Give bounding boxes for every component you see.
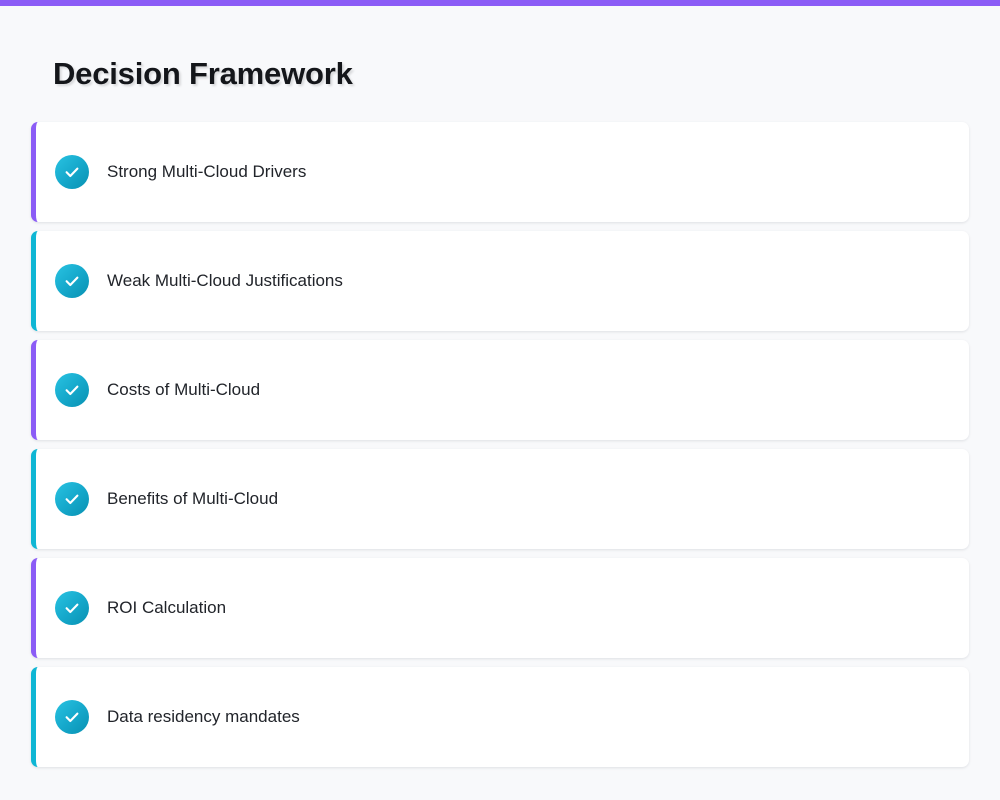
check-circle-icon [55, 700, 89, 734]
checklist-item[interactable]: Benefits of Multi-Cloud [31, 449, 969, 549]
page-title: Decision Framework [53, 54, 353, 94]
checklist-item[interactable]: ROI Calculation [31, 558, 969, 658]
top-accent-bar [0, 0, 1000, 6]
checklist-item[interactable]: Costs of Multi-Cloud [31, 340, 969, 440]
check-circle-icon [55, 591, 89, 625]
checklist-item-label: ROI Calculation [107, 597, 226, 619]
checklist-item-label: Costs of Multi-Cloud [107, 379, 260, 401]
checklist-item[interactable]: Weak Multi-Cloud Justifications [31, 231, 969, 331]
check-circle-icon [55, 482, 89, 516]
checklist-item-label: Strong Multi-Cloud Drivers [107, 161, 306, 183]
checklist-item[interactable]: Strong Multi-Cloud Drivers [31, 122, 969, 222]
checklist: Strong Multi-Cloud DriversWeak Multi-Clo… [31, 122, 969, 767]
checklist-item-label: Weak Multi-Cloud Justifications [107, 270, 343, 292]
check-circle-icon [55, 373, 89, 407]
checklist-item[interactable]: Data residency mandates [31, 667, 969, 767]
check-circle-icon [55, 155, 89, 189]
checklist-item-label: Benefits of Multi-Cloud [107, 488, 278, 510]
check-circle-icon [55, 264, 89, 298]
checklist-item-label: Data residency mandates [107, 706, 300, 728]
